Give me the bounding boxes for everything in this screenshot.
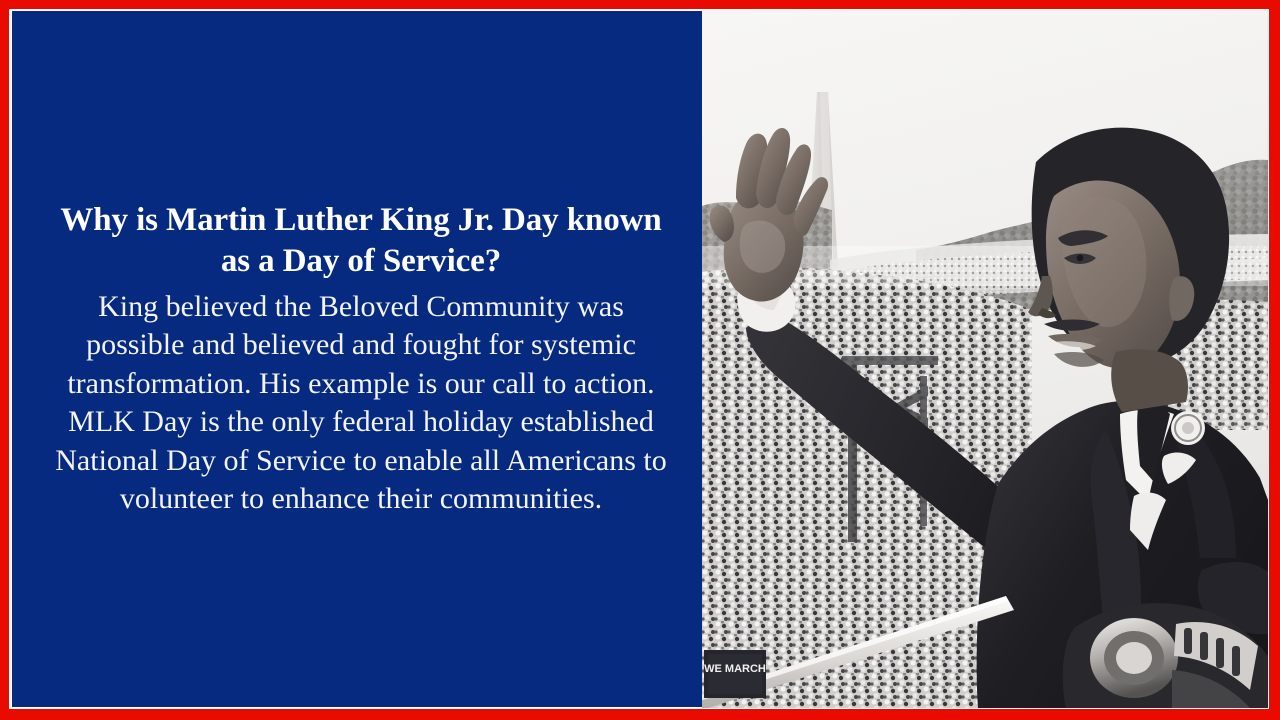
- body-paragraph: King believed the Beloved Community was …: [49, 288, 674, 519]
- photo-illustration: WE MARCH: [702, 10, 1268, 708]
- text-panel: Why is Martin Luther King Jr. Day known …: [12, 11, 702, 707]
- mlk-march-on-washington-photo: WE MARCH: [702, 10, 1268, 708]
- page-title: Why is Martin Luther King Jr. Day known …: [49, 200, 674, 282]
- slide-canvas: Why is Martin Luther King Jr. Day known …: [0, 0, 1280, 720]
